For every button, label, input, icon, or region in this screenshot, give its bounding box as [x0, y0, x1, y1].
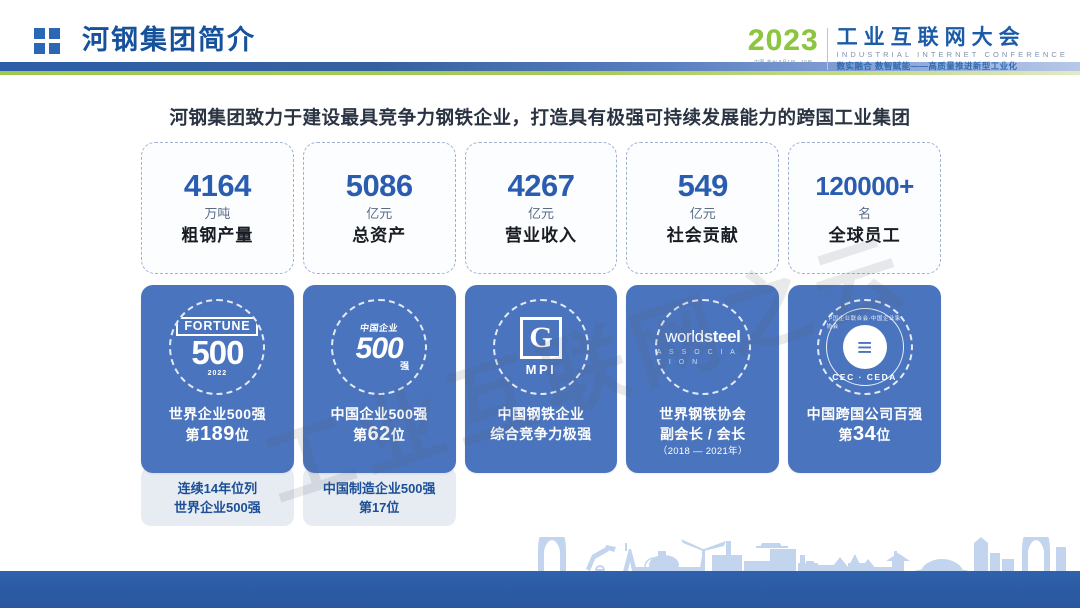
cec-e-glyph: ≡: [857, 334, 872, 360]
award-column: FORTUNE 500 2022 世界企业500强 第189位 连续14年位列 …: [141, 285, 294, 526]
award-column: 中国企业 500 强 中国企业500强 第62位 中国制造企业500强 第17位: [303, 285, 456, 526]
fortune-number: 500: [191, 337, 243, 369]
award-rank: 第62位: [331, 424, 428, 445]
cec-wordmark: CEC · CEDA: [832, 372, 897, 382]
award-line-1: 世界钢铁协会: [658, 404, 748, 424]
stat-label: 总资产: [352, 224, 406, 248]
conference-title-block: 工业互联网大会 INDUSTRIAL INTERNET CONFERENCE 数…: [837, 26, 1068, 72]
award-line-1: 中国钢铁企业: [490, 404, 592, 424]
grid-four-squares-icon: [34, 28, 60, 54]
stat-value: 120000+: [815, 169, 913, 203]
award-card-row: FORTUNE 500 2022 世界企业500强 第189位 连续14年位列 …: [141, 285, 941, 526]
award-column: G MPI 中国钢铁企业 综合竞争力极强: [465, 285, 618, 526]
award-text: 中国钢铁企业 综合竞争力极强: [490, 404, 592, 444]
award-footer: 中国制造企业500强 第17位: [303, 467, 456, 526]
stat-unit: 名: [858, 204, 871, 224]
footer-decoration: [0, 538, 1080, 608]
conference-year-subtitle: 中国·苏州 8月1日—10日: [748, 59, 819, 66]
conference-title-en: INDUSTRIAL INTERNET CONFERENCE: [837, 49, 1068, 60]
industrial-city-skyline-icon: [0, 537, 1080, 575]
china-500-suffix: 强: [400, 359, 409, 372]
worldsteel-wordmark: worldsteel: [665, 327, 740, 346]
cec-ceda-icon: 中国企业联合会·中国企业家协会 ≡ CEC · CEDA: [817, 299, 913, 395]
page-header: 河钢集团简介 2023 中国·苏州 8月1日—10日 工业互联网大会 INDUS…: [0, 0, 1080, 80]
stat-label: 粗钢产量: [181, 224, 253, 248]
cec-arc-text: 中国企业联合会·中国企业家协会: [827, 314, 903, 330]
fortune-wordmark: FORTUNE: [176, 317, 258, 336]
award-text: 世界企业500强 第189位: [169, 404, 266, 445]
rank-prefix: 第: [838, 427, 853, 443]
conference-year: 2023: [748, 26, 819, 56]
award-card: worldsteel A S S O C I A T I O N 世界钢铁协会 …: [626, 285, 779, 473]
award-note: （2018 — 2021年）: [658, 444, 748, 460]
award-footer-line-2: 第17位: [307, 498, 452, 517]
award-card: G MPI 中国钢铁企业 综合竞争力极强: [465, 285, 618, 473]
award-line-2: 综合竞争力极强: [490, 424, 592, 444]
cec-ring: 中国企业联合会·中国企业家协会 ≡ CEC · CEDA: [826, 308, 904, 386]
award-card: FORTUNE 500 2022 世界企业500强 第189位: [141, 285, 294, 473]
rank-number: 34: [853, 423, 876, 445]
conference-title-cn: 工业互联网大会: [837, 26, 1068, 49]
china-500-wordmark: 中国企业: [359, 323, 399, 334]
award-rank: 第189位: [169, 424, 266, 445]
conference-slogan: 数实融合 数智赋能——高质量推进新型工业化: [837, 60, 1068, 72]
award-footer-line-2: 世界企业500强: [145, 498, 290, 517]
rank-suffix: 位: [235, 427, 250, 443]
stat-unit: 亿元: [528, 204, 554, 224]
award-text: 中国跨国公司百强 第34位: [807, 404, 923, 445]
worldsteel-steel: steel: [704, 327, 741, 346]
conference-year-block: 2023 中国·苏州 8月1日—10日: [748, 26, 827, 66]
award-line-1: 世界企业500强: [169, 404, 266, 424]
stat-value: 4267: [508, 169, 575, 203]
stat-unit: 万吨: [204, 204, 230, 224]
rank-prefix: 第: [185, 427, 200, 443]
award-column: 中国企业联合会·中国企业家协会 ≡ CEC · CEDA 中国跨国公司百强 第3…: [788, 285, 941, 526]
award-footer: 连续14年位列 世界企业500强: [141, 467, 294, 526]
stat-card: 120000+ 名 全球员工: [788, 142, 941, 274]
stat-value: 549: [678, 169, 728, 203]
page-title: 河钢集团简介: [82, 20, 256, 60]
mpi-g-logo-icon: G MPI: [493, 299, 589, 395]
award-line-2: 副会长 / 会长: [658, 424, 748, 444]
stat-value: 5086: [346, 169, 413, 203]
award-card: 中国企业联合会·中国企业家协会 ≡ CEC · CEDA 中国跨国公司百强 第3…: [788, 285, 941, 473]
award-footer-line-1: 中国制造企业500强: [307, 479, 452, 498]
cec-core-mark: ≡: [843, 325, 887, 369]
rank-number: 189: [200, 423, 235, 445]
award-line-1: 中国跨国公司百强: [807, 404, 923, 424]
fortune-year: 2022: [208, 369, 228, 378]
stat-card: 5086 亿元 总资产: [303, 142, 456, 274]
china-500-number: 500: [356, 334, 403, 363]
worldsteel-world: world: [665, 327, 704, 346]
award-text: 世界钢铁协会 副会长 / 会长 （2018 — 2021年）: [658, 404, 748, 460]
stat-card: 4164 万吨 粗钢产量: [141, 142, 294, 274]
rank-suffix: 位: [876, 427, 891, 443]
stat-card: 4267 亿元 营业收入: [465, 142, 618, 274]
stat-value: 4164: [184, 169, 251, 203]
mpi-wordmark: MPI: [526, 363, 557, 377]
stat-label: 营业收入: [505, 224, 577, 248]
award-rank: 第34位: [807, 424, 923, 445]
stat-label: 全球员工: [829, 224, 901, 248]
stat-unit: 亿元: [366, 204, 392, 224]
worldsteel-association-text: A S S O C I A T I O N: [657, 348, 749, 368]
conference-logo-divider: [827, 28, 828, 70]
china-top-500-icon: 中国企业 500 强: [331, 299, 427, 395]
mpi-g-letter: G: [529, 323, 552, 353]
award-column: worldsteel A S S O C I A T I O N 世界钢铁协会 …: [626, 285, 779, 526]
award-card: 中国企业 500 强 中国企业500强 第62位: [303, 285, 456, 473]
award-text: 中国企业500强 第62位: [331, 404, 428, 445]
rank-prefix: 第: [353, 427, 368, 443]
award-line-1: 中国企业500强: [331, 404, 428, 424]
award-footer-line-1: 连续14年位列: [145, 479, 290, 498]
stat-card-row: 4164 万吨 粗钢产量 5086 亿元 总资产 4267 亿元 营业收入 54…: [141, 142, 941, 274]
fortune-500-icon: FORTUNE 500 2022: [169, 299, 265, 395]
stat-label: 社会贡献: [667, 224, 739, 248]
rank-number: 62: [368, 423, 391, 445]
headline-text: 河钢集团致力于建设最具竞争力钢铁企业，打造具有极强可持续发展能力的跨国工业集团: [0, 104, 1080, 130]
mpi-g-box: G: [520, 317, 562, 359]
stat-card: 549 亿元 社会贡献: [626, 142, 779, 274]
sea-band: [0, 571, 1080, 608]
worldsteel-association-icon: worldsteel A S S O C I A T I O N: [655, 299, 751, 395]
conference-logo: 2023 中国·苏州 8月1日—10日 工业互联网大会 INDUSTRIAL I…: [748, 26, 1068, 72]
stat-unit: 亿元: [690, 204, 716, 224]
rank-suffix: 位: [391, 427, 406, 443]
